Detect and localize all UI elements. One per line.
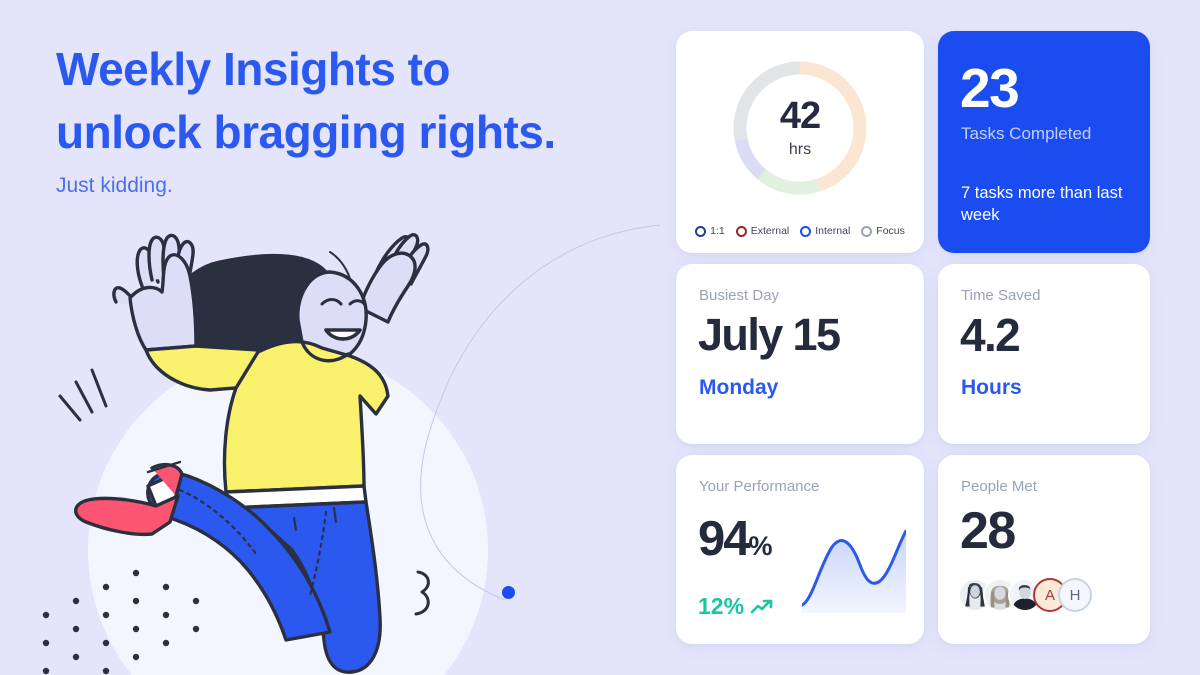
busiest-day-card[interactable]: Busiest Day July 15 Monday (676, 264, 924, 444)
time-saved-label: Time Saved (961, 287, 1040, 304)
legend-label-external: External (751, 225, 790, 237)
insights-card-grid: 42 hrs 1:1 External Internal Focus (676, 31, 1150, 644)
performance-percent-sign: % (749, 531, 773, 561)
performance-label: Your Performance (699, 478, 819, 495)
woman-jumping-illustration (30, 200, 470, 675)
legend-item-1to1[interactable]: 1:1 (695, 225, 725, 237)
trending-up-icon (750, 598, 774, 616)
busiest-day-label: Busiest Day (699, 287, 779, 304)
meeting-hours-unit: hrs (789, 141, 811, 159)
performance-value-wrap: 94% (698, 515, 772, 564)
legend-label-internal: Internal (815, 225, 850, 237)
legend-item-focus[interactable]: Focus (861, 225, 905, 237)
legend-label-focus: Focus (876, 225, 905, 237)
meeting-time-donut-chart: 42 hrs (727, 55, 873, 201)
time-saved-unit: Hours (961, 376, 1022, 400)
performance-card[interactable]: Your Performance 94% 12% (676, 455, 924, 644)
hero-panel: Weekly Insights to unlock bragging right… (0, 0, 660, 675)
legend-dot-icon (736, 226, 747, 237)
legend-item-external[interactable]: External (736, 225, 790, 237)
meeting-hours-value: 42 (780, 97, 820, 135)
donut-legend: 1:1 External Internal Focus (676, 225, 924, 237)
tasks-completed-value: 23 (960, 61, 1018, 116)
legend-dot-icon (695, 226, 706, 237)
people-met-card[interactable]: People Met 28 (938, 455, 1150, 644)
legend-dot-icon (800, 226, 811, 237)
tasks-comparison-text: 7 tasks more than last week (961, 183, 1136, 227)
performance-sparkline (802, 525, 906, 613)
performance-value: 94 (698, 512, 749, 566)
performance-delta-value: 12% (698, 593, 744, 620)
avatar-initial-h[interactable]: H (1058, 578, 1092, 612)
legend-dot-icon (861, 226, 872, 237)
donut-center-label: 42 hrs (727, 55, 873, 201)
connector-dot (502, 586, 515, 599)
people-met-value: 28 (960, 505, 1015, 557)
performance-delta: 12% (698, 593, 774, 620)
avatar-initial-a-letter: A (1045, 587, 1055, 604)
busiest-day-value: July 15 (698, 310, 839, 360)
legend-item-internal[interactable]: Internal (800, 225, 850, 237)
tasks-completed-label: Tasks Completed (961, 124, 1091, 144)
time-saved-value: 4.2 (960, 310, 1019, 362)
people-met-label: People Met (961, 478, 1037, 495)
busiest-day-weekday: Monday (699, 376, 778, 400)
meeting-time-card[interactable]: 42 hrs 1:1 External Internal Focus (676, 31, 924, 253)
avatar-initial-h-letter: H (1070, 587, 1081, 604)
legend-label-1to1: 1:1 (710, 225, 725, 237)
tasks-completed-card[interactable]: 23 Tasks Completed 7 tasks more than las… (938, 31, 1150, 253)
time-saved-card[interactable]: Time Saved 4.2 Hours (938, 264, 1150, 444)
people-met-avatar-group: A H (958, 578, 1083, 612)
